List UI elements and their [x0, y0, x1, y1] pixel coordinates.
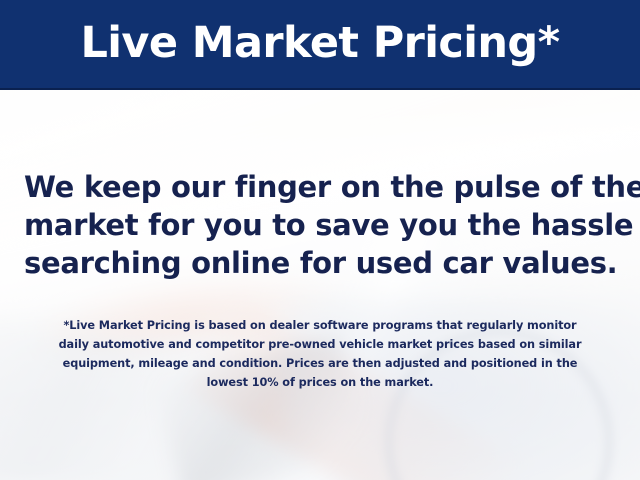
disclaimer-line-1: *Live Market Pricing is based on dealer …	[28, 316, 612, 335]
content-area: We keep our finger on the pulse of the m…	[0, 90, 640, 480]
lede-paragraph: We keep our finger on the pulse of the m…	[24, 168, 616, 282]
header-banner: Live Market Pricing*	[0, 0, 640, 90]
disclaimer-line-2: daily automotive and competitor pre-owne…	[28, 335, 612, 354]
live-market-pricing-card: Live Market Pricing* We keep our finger …	[0, 0, 640, 480]
lede-line-3: searching online for used car values.	[24, 244, 616, 282]
lede-line-2: market for you to save you the hassle of	[24, 206, 616, 244]
disclaimer-line-4: lowest 10% of prices on the market.	[28, 373, 612, 392]
lede-line-1: We keep our finger on the pulse of the	[24, 168, 616, 206]
page-title: Live Market Pricing*	[80, 22, 559, 65]
disclaimer-line-3: equipment, mileage and condition. Prices…	[28, 354, 612, 373]
disclaimer-paragraph: *Live Market Pricing is based on dealer …	[28, 316, 612, 392]
